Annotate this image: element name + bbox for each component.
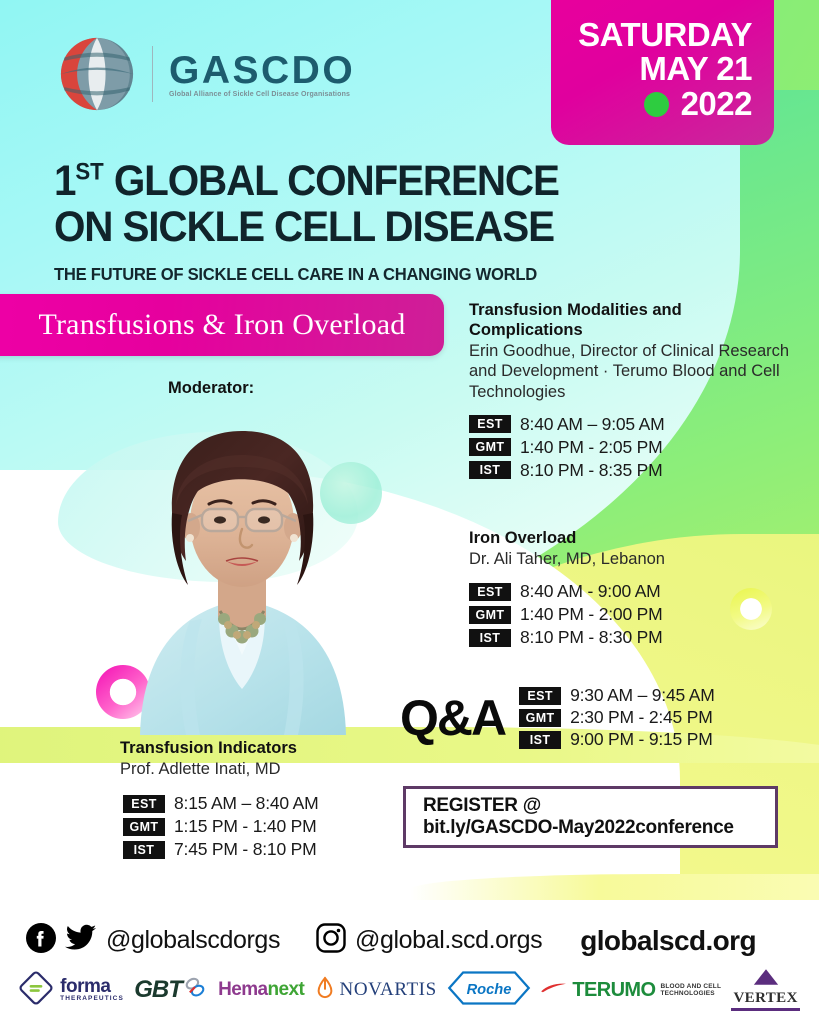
moderator-portrait (116, 405, 368, 735)
novartis-logo-icon (315, 975, 335, 1006)
time-row: EST 8:40 AM – 9:05 AM (469, 414, 794, 435)
time-value: 8:40 AM - 9:00 AM (520, 581, 661, 602)
time-row: EST 9:30 AM – 9:45 AM (519, 685, 714, 706)
page-subtitle: THE FUTURE OF SICKLE CELL CARE IN A CHAN… (54, 264, 564, 285)
sponsor-forma[interactable]: forma THERAPEUTICS (19, 971, 124, 1010)
time-row: IST 7:45 PM - 8:10 PM (123, 839, 318, 860)
title-line-1-rest: GLOBAL CONFERENCE (104, 157, 559, 205)
terumo-swoosh-icon (541, 981, 567, 999)
timezone-badge: IST (469, 629, 511, 647)
date-day: MAY 21 (567, 52, 752, 86)
time-row: GMT 1:15 PM - 1:40 PM (123, 816, 318, 837)
timezone-badge: IST (469, 461, 511, 479)
sponsor-name: forma (60, 977, 124, 996)
talk-title: Transfusion Modalities and Complications (469, 300, 789, 340)
talk-block-1: Transfusion Modalities and Complications… (469, 300, 794, 483)
roche-logo-icon: Roche (447, 969, 531, 1012)
sponsor-gbt[interactable]: GBT (134, 975, 208, 1006)
session-title-label: Transfusions & Iron Overload (23, 308, 406, 342)
forma-wordmark: forma THERAPEUTICS (60, 977, 124, 1003)
register-url[interactable]: bit.ly/GASCDO-May2022conference (423, 817, 775, 839)
time-value: 1:40 PM - 2:00 PM (520, 604, 663, 625)
instagram-icon[interactable] (316, 923, 346, 958)
globe-logo-icon (56, 33, 138, 115)
talk-title: Iron Overload (469, 528, 665, 548)
timezone-badge: EST (519, 687, 561, 705)
sponsor-name: TERUMO (572, 979, 655, 1002)
talk-speaker: Dr. Ali Taher, MD, Lebanon (469, 549, 665, 569)
timezone-badge: IST (519, 731, 561, 749)
sponsor-terumo[interactable]: TERUMO BLOOD AND CELL TECHNOLOGIES (541, 979, 721, 1002)
poster-header: GASCDO Global Alliance of Sickle Cell Di… (0, 0, 819, 150)
time-row: GMT 1:40 PM - 2:05 PM (469, 437, 794, 458)
timezone-badge: GMT (469, 606, 511, 624)
timezone-badge: EST (123, 795, 165, 813)
talk-block-3: Transfusion Indicators Prof. Adlette Ina… (120, 738, 318, 862)
moderator-label: Moderator: (168, 379, 254, 398)
sponsor-roche[interactable]: Roche (447, 969, 531, 1012)
social-group-instagram: @global.scd.orgs (316, 923, 542, 958)
time-row: IST 8:10 PM - 8:35 PM (469, 460, 794, 481)
time-value: 1:40 PM - 2:05 PM (520, 437, 663, 458)
sponsor-sub: BLOOD AND CELL TECHNOLOGIES (660, 983, 721, 998)
sponsor-bar: forma THERAPEUTICS GBT Hemanext (0, 962, 819, 1018)
time-value: 8:15 AM – 8:40 AM (174, 793, 318, 814)
timezone-badge: GMT (123, 818, 165, 836)
twitter-icon[interactable] (65, 924, 97, 957)
social-handle[interactable]: @globalscdorgs (106, 926, 280, 955)
register-box[interactable]: REGISTER @ bit.ly/GASCDO-May2022conferen… (403, 786, 778, 848)
title-line-1: 1ST GLOBAL CONFERENCE (54, 158, 559, 204)
time-value: 2:30 PM - 2:45 PM (570, 707, 713, 728)
sponsor-name: NOVARTIS (340, 979, 437, 1001)
title-ordinal-suffix: ST (75, 160, 103, 186)
time-row: IST 8:10 PM - 8:30 PM (469, 627, 665, 648)
sponsor-sub: THERAPEUTICS (60, 996, 124, 1003)
title-line-2: ON SICKLE CELL DISEASE (54, 204, 559, 250)
session-title-banner: Transfusions & Iron Overload (0, 294, 444, 356)
timezone-badge: EST (469, 583, 511, 601)
time-value: 8:10 PM - 8:30 PM (520, 627, 663, 648)
date-badge: SATURDAY MAY 21 2022 (551, 0, 774, 145)
logo-name: GASCDO (169, 51, 355, 90)
register-label: REGISTER @ (423, 795, 775, 817)
qa-block: Q&A EST 9:30 AM – 9:45 AM GMT 2:30 PM - … (400, 685, 715, 751)
social-footer: @globalscdorgs @global.scd.orgs globalsc… (0, 923, 819, 958)
talk-times: EST 8:15 AM – 8:40 AM GMT 1:15 PM - 1:40… (120, 793, 318, 860)
green-dot-icon (644, 92, 669, 117)
time-row: GMT 1:40 PM - 2:00 PM (469, 604, 665, 625)
talk-times: EST 8:40 AM – 9:05 AM GMT 1:40 PM - 2:05… (469, 414, 794, 481)
qa-times: EST 9:30 AM – 9:45 AM GMT 2:30 PM - 2:45… (519, 685, 714, 751)
logo-tagline: Global Alliance of Sickle Cell Disease O… (169, 91, 355, 98)
talk-speaker: Erin Goodhue, Director of Clinical Resea… (469, 341, 794, 401)
time-value: 7:45 PM - 8:10 PM (174, 839, 317, 860)
time-row: IST 9:00 PM - 9:15 PM (519, 729, 714, 750)
page-title: 1ST GLOBAL CONFERENCE ON SICKLE CELL DIS… (54, 158, 591, 285)
logo-divider (152, 46, 153, 102)
talk-title: Transfusion Indicators (120, 738, 318, 758)
terumo-sub-line-1: BLOOD AND CELL (660, 983, 721, 990)
hemanext-part-a: Hema (218, 979, 267, 1000)
sponsor-name: GBT (134, 976, 182, 1004)
timezone-badge: EST (469, 415, 511, 433)
sponsor-vertex[interactable]: VERTEX (731, 969, 799, 1011)
gascdo-logo[interactable]: GASCDO Global Alliance of Sickle Cell Di… (56, 33, 355, 115)
talk-speaker: Prof. Adlette Inati, MD (120, 759, 318, 779)
sponsor-hemanext[interactable]: Hemanext (218, 979, 304, 1001)
talk-times: EST 8:40 AM - 9:00 AM GMT 1:40 PM - 2:00… (469, 581, 665, 648)
time-value: 8:10 PM - 8:35 PM (520, 460, 663, 481)
social-group-facebook-twitter: @globalscdorgs (26, 923, 280, 958)
date-year: 2022 (681, 87, 752, 121)
hemanext-part-b: next (268, 979, 305, 1000)
talk-block-2: Iron Overload Dr. Ali Taher, MD, Lebanon… (469, 528, 665, 650)
time-row: GMT 2:30 PM - 2:45 PM (519, 707, 714, 728)
sponsor-name: VERTEX (731, 990, 799, 1011)
timezone-badge: GMT (469, 438, 511, 456)
vertex-triangle-icon (753, 969, 779, 990)
date-weekday: SATURDAY (567, 18, 752, 52)
qa-label: Q&A (400, 689, 505, 747)
decorative-yellow-ring-icon (730, 588, 772, 630)
time-row: EST 8:40 AM - 9:00 AM (469, 581, 665, 602)
time-value: 1:15 PM - 1:40 PM (174, 816, 317, 837)
timezone-badge: GMT (519, 709, 561, 727)
facebook-icon[interactable] (26, 923, 56, 958)
time-value: 9:30 AM – 9:45 AM (570, 685, 714, 706)
instagram-handle[interactable]: @global.scd.orgs (355, 926, 542, 955)
logo-text-block: GASCDO Global Alliance of Sickle Cell Di… (167, 51, 355, 98)
terumo-sub-line-2: TECHNOLOGIES (660, 990, 714, 997)
title-ordinal: 1 (54, 157, 75, 205)
time-value: 9:00 PM - 9:15 PM (570, 729, 713, 750)
conference-poster: GASCDO Global Alliance of Sickle Cell Di… (0, 0, 819, 1024)
time-row: EST 8:15 AM – 8:40 AM (123, 793, 318, 814)
timezone-badge: IST (123, 841, 165, 859)
website-url[interactable]: globalscd.org (580, 925, 756, 957)
date-year-row: 2022 (567, 87, 752, 121)
time-value: 8:40 AM – 9:05 AM (520, 414, 664, 435)
svg-text:Roche: Roche (467, 982, 512, 998)
forma-logo-icon (19, 971, 53, 1010)
sponsor-name: Hemanext (218, 979, 304, 1001)
sponsor-novartis[interactable]: NOVARTIS (315, 975, 437, 1006)
gbt-logo-icon (182, 975, 208, 1006)
